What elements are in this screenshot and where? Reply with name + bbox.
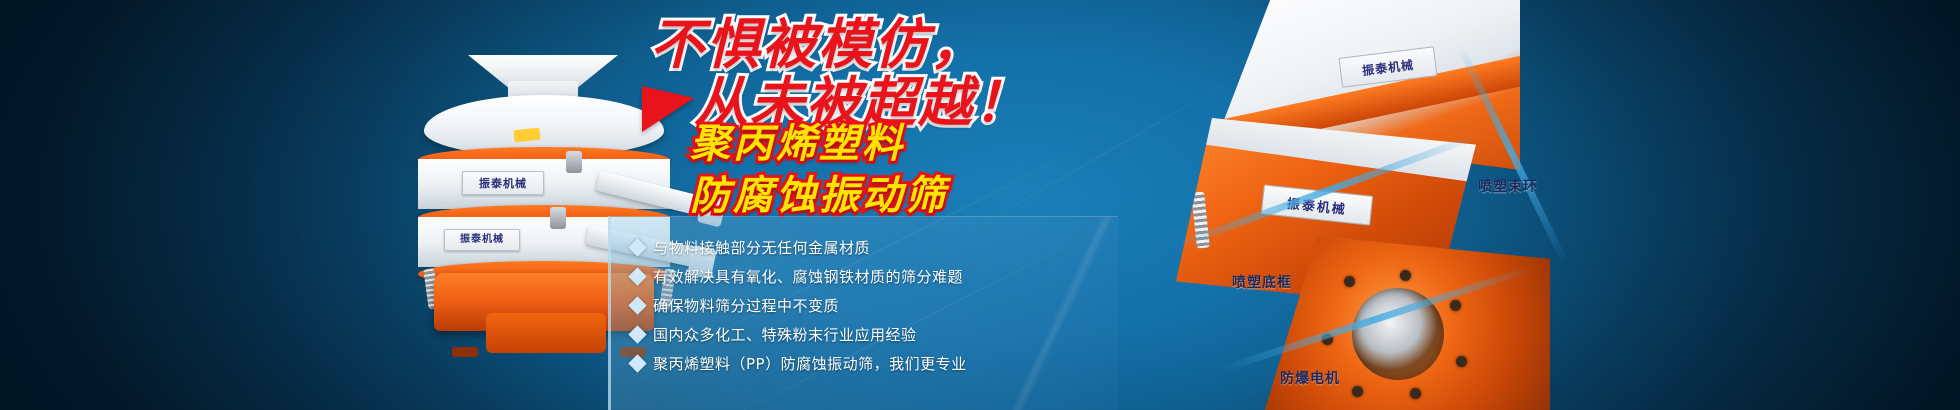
detail-panel-caption-clamp-ring: 喷塑束环 <box>1478 176 1538 196</box>
diamond-bullet-icon <box>628 296 646 314</box>
brand-plate-lower: 振泰机械 <box>444 229 520 251</box>
feature-item-label: 国内众多化工、特殊粉末行业应用经验 <box>653 324 917 345</box>
detail-panel-group: 振泰机械 振泰机械 喷塑束环 喷塑底框 防爆电机 <box>1190 0 1620 410</box>
diamond-bullet-icon <box>628 238 646 256</box>
brand-plate-text: 振泰机械 <box>460 235 504 245</box>
subheadline-line-2: 防腐蚀振动筛 <box>690 176 948 216</box>
subheadline-line-1: 聚丙烯塑料 <box>690 124 905 164</box>
motor-bolt <box>1450 300 1461 311</box>
motor-bolt <box>1352 386 1363 397</box>
brand-plate-text: 振泰机械 <box>479 178 527 189</box>
detail-panel-caption-base-frame: 喷塑底框 <box>1232 272 1292 292</box>
diamond-bullet-icon <box>628 354 646 372</box>
red-triangle-arrow-icon <box>642 86 694 132</box>
motor-bolt <box>1410 388 1421 399</box>
feature-item-label: 确保物料筛分过程中不变质 <box>653 295 839 316</box>
feature-item-label: 有效解决具有氧化、腐蚀钢铁材质的筛分难题 <box>653 266 963 287</box>
diamond-bullet-icon <box>628 267 646 285</box>
machine-clamp-latch <box>550 207 566 229</box>
feature-list-panel: 与物料接触部分无任何金属材质 有效解决具有氧化、腐蚀钢铁材质的筛分难题 确保物料… <box>608 216 1118 410</box>
motor-bolt <box>1344 276 1355 287</box>
panel-highlight <box>968 217 1118 410</box>
diamond-bullet-icon <box>628 325 646 343</box>
motor-bolt <box>1456 356 1467 367</box>
machine-foot <box>452 347 478 357</box>
brand-plate-upper: 振泰机械 <box>462 171 544 195</box>
motor-bolt <box>1400 270 1411 281</box>
machine-clamp-latch <box>566 151 582 173</box>
feature-item-label: 聚丙烯塑料（PP）防腐蚀振动筛，我们更专业 <box>653 353 967 374</box>
detail-panel-caption-motor: 防爆电机 <box>1280 368 1340 388</box>
machine-motor <box>486 313 606 353</box>
headline-line-1: 不惧被模仿， <box>650 18 986 72</box>
feature-item-label: 与物料接触部分无任何金属材质 <box>653 237 870 258</box>
promo-banner: 振泰机械 振泰机械 不惧被模仿， 从未被超越！ 聚丙烯塑料 防腐蚀振动筛 与物料… <box>0 0 1960 410</box>
